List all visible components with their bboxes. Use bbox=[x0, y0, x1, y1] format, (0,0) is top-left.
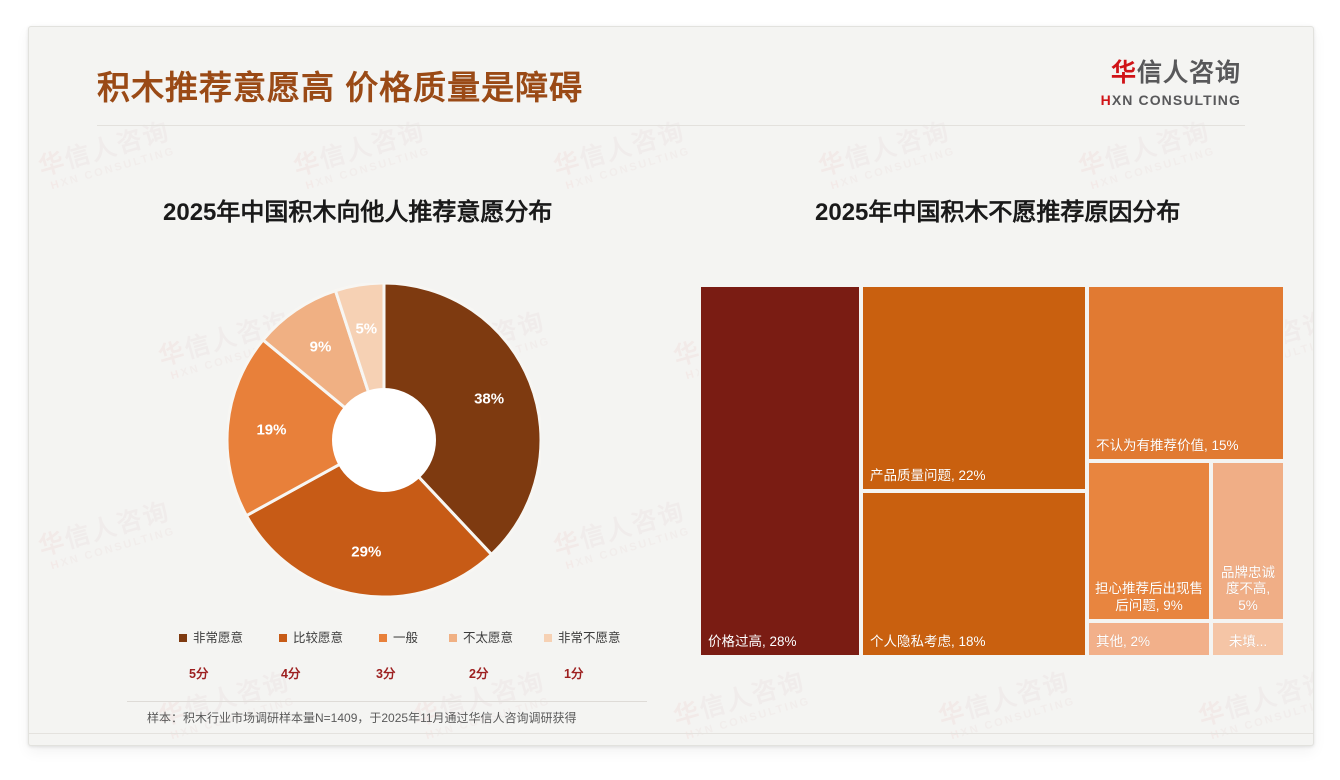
legend-item[interactable]: 非常不愿意 bbox=[544, 628, 651, 648]
legend-label: 不太愿意 bbox=[463, 632, 513, 645]
watermark-mark: 华信人咨询HXN CONSULTING bbox=[36, 119, 177, 194]
treemap-cell[interactable]: 未填... bbox=[1211, 621, 1285, 657]
watermark-mark: 华信人咨询HXN CONSULTING bbox=[816, 119, 957, 194]
title-divider bbox=[97, 125, 1245, 126]
donut-slice-label: 9% bbox=[310, 339, 332, 356]
legend-swatch-icon bbox=[279, 634, 287, 642]
watermark-mark: 华信人咨询HXN CONSULTING bbox=[291, 119, 432, 194]
donut-chart-svg: 38%29%19%9%5% bbox=[227, 283, 541, 597]
sample-note: 样本：积木行业市场调研样本量N=1409，于2025年11月通过华信人咨询调研获… bbox=[147, 712, 577, 724]
treemap-cell-label: 个人隐私考虑, 18% bbox=[870, 634, 1080, 650]
treemap-cell-label: 价格过高, 28% bbox=[708, 634, 854, 650]
donut-slice-label: 19% bbox=[256, 421, 286, 438]
treemap-cell-label: 产品质量问题, 22% bbox=[870, 468, 1080, 484]
treemap-cell-label: 品牌忠诚度不高, 5% bbox=[1217, 565, 1279, 614]
treemap-cell[interactable]: 其他, 2% bbox=[1087, 621, 1211, 657]
page-title: 积木推荐意愿高 价格质量是障碍 bbox=[97, 71, 583, 104]
scale-label: 4分 bbox=[281, 668, 300, 681]
donut-slice-label: 29% bbox=[351, 544, 381, 561]
left-chart-title: 2025年中国积木向他人推荐意愿分布 bbox=[163, 201, 552, 225]
treemap-cell[interactable]: 个人隐私考虑, 18% bbox=[861, 491, 1087, 657]
watermark-mark: 华信人咨询HXN CONSULTING bbox=[551, 499, 692, 574]
scale-label: 5分 bbox=[189, 668, 208, 681]
logo-en-rest: XN CONSULTING bbox=[1112, 92, 1241, 108]
scale-label: 1分 bbox=[564, 668, 583, 681]
legend-item[interactable]: 不太愿意 bbox=[449, 628, 544, 648]
slide-card: 华信人咨询HXN CONSULTING华信人咨询HXN CONSULTING华信… bbox=[28, 26, 1314, 746]
legend-label: 一般 bbox=[393, 632, 418, 645]
treemap-chart: 价格过高, 28%产品质量问题, 22%个人隐私考虑, 18%不认为有推荐价值,… bbox=[699, 285, 1285, 657]
footnote-divider bbox=[127, 701, 647, 702]
slide-header: 积木推荐意愿高 价格质量是障碍 华信人咨询 HXN CONSULTING bbox=[29, 27, 1313, 127]
watermark-mark: 华信人咨询HXN CONSULTING bbox=[1076, 119, 1217, 194]
treemap-cell[interactable]: 价格过高, 28% bbox=[699, 285, 861, 657]
treemap-cell-label: 其他, 2% bbox=[1096, 634, 1204, 650]
legend-swatch-icon bbox=[179, 634, 187, 642]
donut-hole bbox=[332, 388, 436, 492]
treemap-cell-label: 未填... bbox=[1217, 634, 1279, 650]
logo-english-text: HXN CONSULTING bbox=[1101, 93, 1241, 107]
treemap-cell[interactable]: 担心推荐后出现售后问题, 9% bbox=[1087, 461, 1211, 621]
scale-label: 2分 bbox=[469, 668, 488, 681]
legend-label: 非常不愿意 bbox=[558, 632, 621, 645]
slide-canvas: 华信人咨询HXN CONSULTING华信人咨询HXN CONSULTING华信… bbox=[0, 0, 1340, 780]
footer-divider bbox=[29, 733, 1313, 734]
treemap-cell[interactable]: 品牌忠诚度不高, 5% bbox=[1211, 461, 1285, 621]
legend-swatch-icon bbox=[544, 634, 552, 642]
treemap-cell[interactable]: 产品质量问题, 22% bbox=[861, 285, 1087, 491]
scale-label: 3分 bbox=[376, 668, 395, 681]
treemap-cell[interactable]: 不认为有推荐价值, 15% bbox=[1087, 285, 1285, 461]
legend-label: 非常愿意 bbox=[193, 632, 243, 645]
treemap-cell-label: 担心推荐后出现售后问题, 9% bbox=[1093, 581, 1205, 614]
legend-label: 比较愿意 bbox=[293, 632, 343, 645]
logo-en-accent: H bbox=[1101, 92, 1112, 108]
legend-swatch-icon bbox=[449, 634, 457, 642]
donut-legend: 非常愿意比较愿意一般不太愿意非常不愿意 bbox=[179, 628, 651, 648]
donut-slice-label: 5% bbox=[355, 320, 377, 337]
logo-chinese-text: 华信人咨询 bbox=[1101, 61, 1241, 86]
brand-logo: 华信人咨询 HXN CONSULTING bbox=[1101, 61, 1241, 107]
legend-swatch-icon bbox=[379, 634, 387, 642]
logo-cn-rest: 信人咨询 bbox=[1137, 59, 1241, 87]
donut-scale-row: 5分4分3分2分1分 bbox=[179, 668, 651, 688]
logo-cn-accent: 华 bbox=[1111, 59, 1137, 87]
right-chart-title: 2025年中国积木不愿推荐原因分布 bbox=[815, 201, 1180, 225]
donut-chart: 38%29%19%9%5% bbox=[227, 283, 541, 597]
watermark-mark: 华信人咨询HXN CONSULTING bbox=[36, 499, 177, 574]
watermark-mark: 华信人咨询HXN CONSULTING bbox=[551, 119, 692, 194]
treemap-cell-label: 不认为有推荐价值, 15% bbox=[1096, 438, 1278, 454]
donut-slice-label: 38% bbox=[474, 390, 504, 407]
legend-item[interactable]: 一般 bbox=[379, 628, 449, 648]
legend-item[interactable]: 比较愿意 bbox=[279, 628, 379, 648]
legend-item[interactable]: 非常愿意 bbox=[179, 628, 279, 648]
